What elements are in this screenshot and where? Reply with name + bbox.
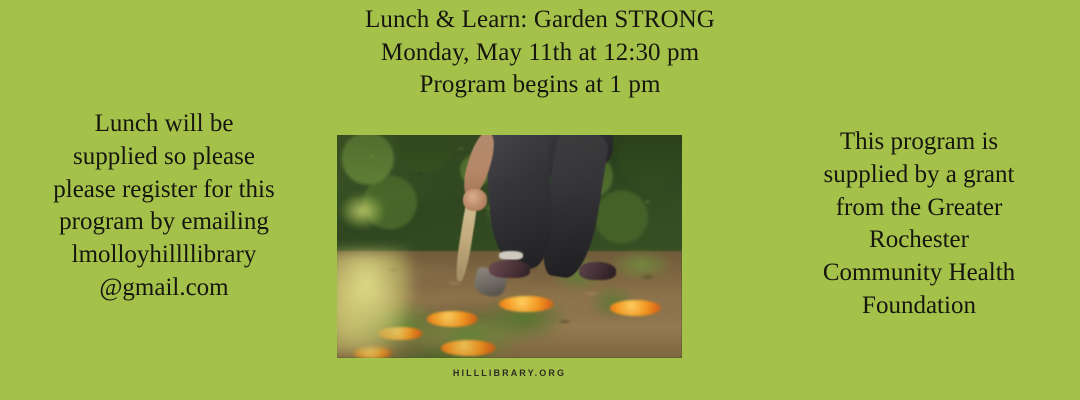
right-line-6: Foundation <box>768 290 1070 323</box>
heading-line-date: Monday, May 11th at 12:30 pm <box>260 37 820 70</box>
photo-gardener-sock <box>499 251 523 260</box>
right-line-1: This program is <box>768 126 1070 159</box>
right-line-4: Rochester <box>768 224 1070 257</box>
registration-info-text: Lunch will be supplied so please please … <box>8 108 320 305</box>
heading-line-title: Lunch & Learn: Garden STRONG <box>260 4 820 37</box>
photo-sunlit-leaves <box>340 193 385 229</box>
photo-bokeh-blossom <box>337 251 413 354</box>
poster-canvas: Lunch & Learn: Garden STRONG Monday, May… <box>0 0 1080 400</box>
photo-gardener-hand <box>463 189 487 211</box>
heading-line-start: Program begins at 1 pm <box>260 69 820 102</box>
photo-marigold-flower <box>427 311 479 327</box>
right-line-5: Community Health <box>768 257 1070 290</box>
garden-photo <box>337 135 682 358</box>
left-line-2: supplied so please <box>8 141 320 174</box>
contact-email-domain: @gmail.com <box>8 272 320 305</box>
left-line-3: please register for this <box>8 174 320 207</box>
right-line-2: supplied by a grant <box>768 159 1070 192</box>
event-heading: Lunch & Learn: Garden STRONG Monday, May… <box>260 4 820 102</box>
photo-marigold-flower <box>441 340 496 356</box>
grant-credit-text: This program is supplied by a grant from… <box>768 126 1070 323</box>
left-line-4: program by emailing <box>8 206 320 239</box>
photo-marigold-flower <box>610 300 662 316</box>
website-caption: HILLLIBRARY.ORG <box>337 368 682 378</box>
garden-photo-scene <box>337 135 682 358</box>
contact-email-local: lmolloyhillllibrary <box>8 239 320 272</box>
right-line-3: from the Greater <box>768 192 1070 225</box>
left-line-1: Lunch will be <box>8 108 320 141</box>
